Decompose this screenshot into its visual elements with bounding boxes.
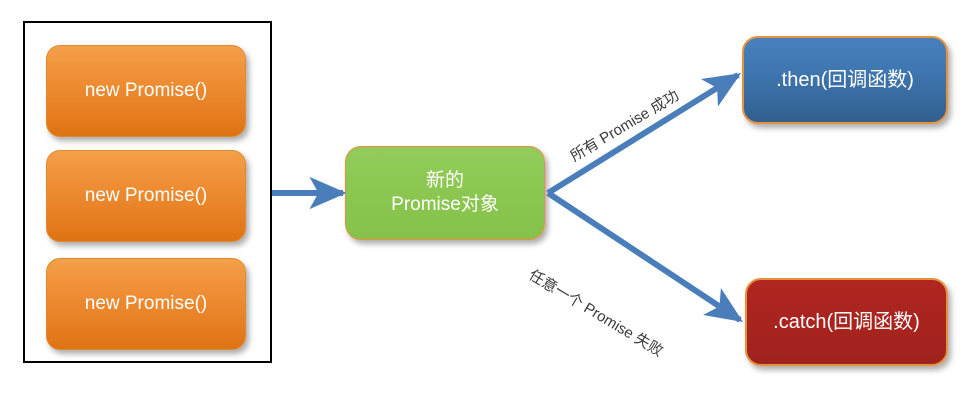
promise-box-1: new Promise() [46,45,246,137]
edge-label-failure: 任意一个 Promise 失败 [525,264,667,361]
diagram-canvas: new Promise() new Promise() new Promise(… [0,0,978,400]
then-callback-box: .then(回调函数) [742,36,948,124]
arrow-aggregate-to-then [548,75,738,193]
aggregate-promise-box: 新的 Promise对象 [345,146,545,240]
catch-callback-box: .catch(回调函数) [745,278,948,366]
edge-label-success: 所有 Promise 成功 [566,84,683,166]
promise-box-2: new Promise() [46,150,246,242]
promise-box-3: new Promise() [46,258,246,350]
